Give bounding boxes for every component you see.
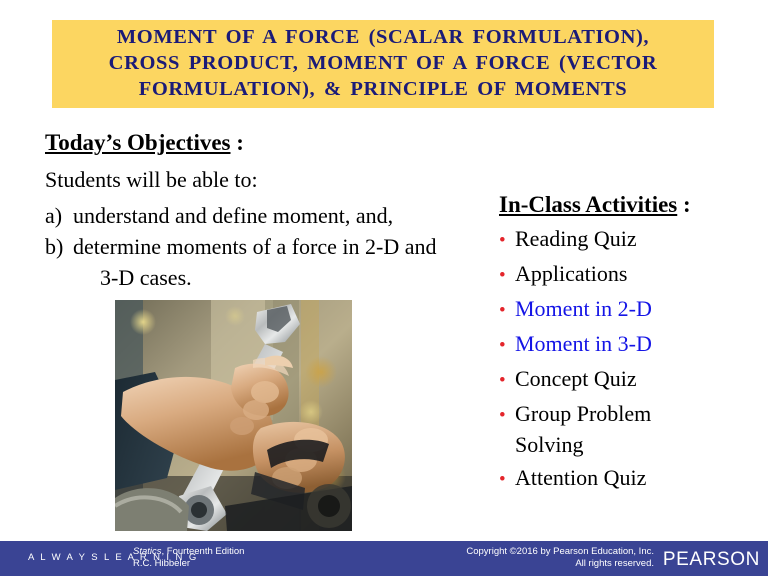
hands-using-wrench-photo xyxy=(115,300,352,531)
activities-heading: In-Class Activities : xyxy=(499,190,749,220)
activity-label: Moment in 2-D xyxy=(515,295,749,322)
objective-item-b-label: b) xyxy=(45,232,73,261)
bullet-icon: • xyxy=(499,466,515,493)
bullet-icon: • xyxy=(499,332,515,359)
objective-item-a-text: understand and define moment, and, xyxy=(73,201,485,230)
activity-label-continuation: Solving xyxy=(499,431,749,458)
slide-canvas: MOMENT OF A FORCE (SCALAR FORMULATION), … xyxy=(0,0,768,576)
activity-item-moment-3d[interactable]: • Moment in 3-D xyxy=(499,330,749,359)
activity-label: Moment in 3-D xyxy=(515,330,749,357)
activity-label: Applications xyxy=(515,260,749,287)
objective-item-a: a) understand and define moment, and, xyxy=(45,201,485,230)
activities-heading-colon: : xyxy=(677,192,690,217)
slide-footer: A L W A Y S L E A R N I N G Statics, Fou… xyxy=(0,541,768,576)
page-title: MOMENT OF A FORCE (SCALAR FORMULATION), … xyxy=(109,24,658,102)
bullet-icon: • xyxy=(499,367,515,394)
objectives-heading-label: Today’s Objectives xyxy=(45,130,231,155)
objectives-section: Today’s Objectives : Students will be ab… xyxy=(45,128,485,292)
activity-label: Group Problem xyxy=(515,400,749,427)
objectives-subheading: Students will be able to: xyxy=(45,165,485,195)
objectives-heading: Today’s Objectives : xyxy=(45,128,485,158)
copyright-line-1: Copyright ©2016 by Pearson Education, In… xyxy=(466,546,654,557)
activity-item-concept-quiz[interactable]: • Concept Quiz xyxy=(499,365,749,394)
book-author: R.C. Hibbeler xyxy=(133,558,190,569)
pearson-logo: PEARSON xyxy=(663,549,760,571)
activity-item-group-problem-solving[interactable]: • Group Problem xyxy=(499,400,749,429)
copyright-notice: Copyright ©2016 by Pearson Education, In… xyxy=(466,546,654,570)
book-info: Statics, Fourteenth Edition R.C. Hibbele… xyxy=(133,546,244,570)
in-class-activities-section: In-Class Activities : • Reading Quiz • A… xyxy=(499,190,749,499)
objective-item-b-continuation: 3-D cases. xyxy=(45,263,485,292)
activity-item-applications[interactable]: • Applications xyxy=(499,260,749,289)
objective-item-b: b) determine moments of a force in 2-D a… xyxy=(45,232,485,261)
activity-label: Concept Quiz xyxy=(515,365,749,392)
activities-heading-label: In-Class Activities xyxy=(499,192,677,217)
objective-item-a-label: a) xyxy=(45,201,73,230)
bullet-icon: • xyxy=(499,262,515,289)
activity-label: Attention Quiz xyxy=(515,464,749,491)
activity-item-reading-quiz[interactable]: • Reading Quiz xyxy=(499,225,749,254)
book-title: Statics xyxy=(133,546,162,557)
activity-item-moment-2d[interactable]: • Moment in 2-D xyxy=(499,295,749,324)
title-banner: MOMENT OF A FORCE (SCALAR FORMULATION), … xyxy=(52,20,714,108)
objectives-heading-colon: : xyxy=(231,130,244,155)
objective-item-b-text: determine moments of a force in 2-D and xyxy=(73,232,485,261)
book-edition: , Fourteenth Edition xyxy=(162,546,245,557)
bullet-icon: • xyxy=(499,402,515,429)
activity-item-attention-quiz[interactable]: • Attention Quiz xyxy=(499,464,749,493)
bullet-icon: • xyxy=(499,227,515,254)
copyright-line-2: All rights reserved. xyxy=(575,558,654,569)
activity-label: Reading Quiz xyxy=(515,225,749,252)
bullet-icon: • xyxy=(499,297,515,324)
